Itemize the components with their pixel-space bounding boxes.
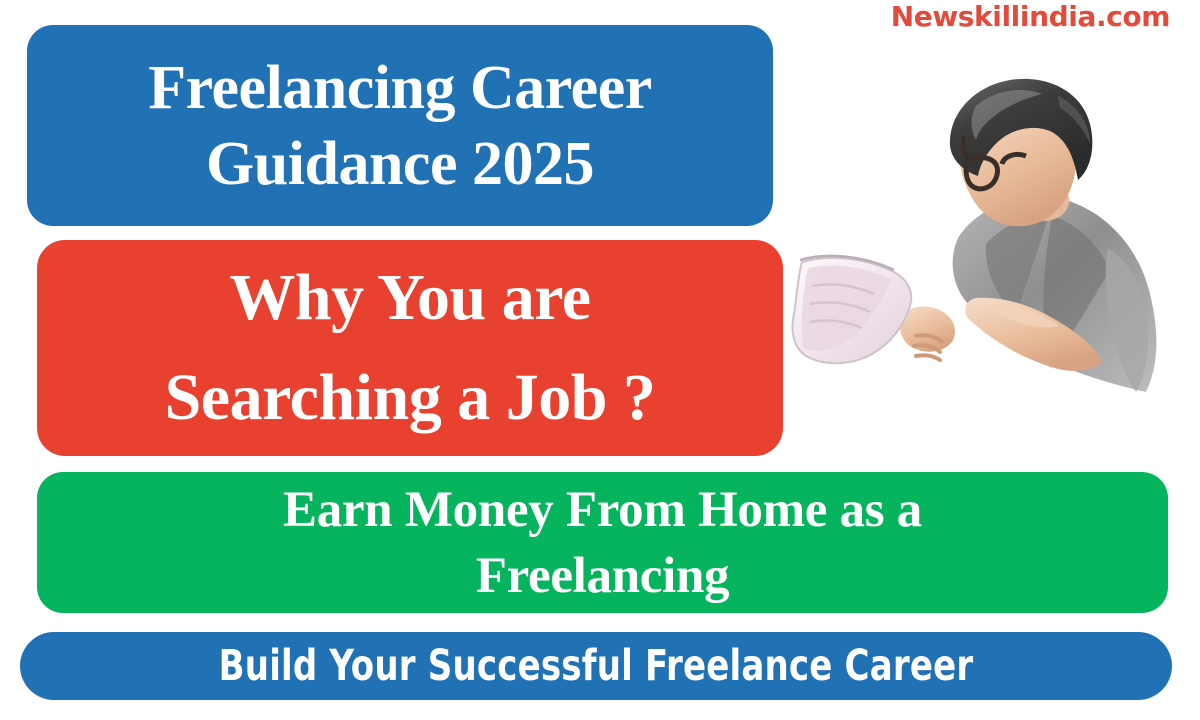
site-brand-watermark: Newskillindia.com (891, 1, 1170, 33)
earn-text: Earn Money From Home as a Freelancing (37, 477, 1168, 609)
cta-text: Build Your Successful Freelance Career (89, 642, 1103, 690)
earn-line-2: Freelancing (476, 548, 730, 604)
poster-canvas: Newskillindia.com (0, 0, 1200, 720)
question-band: Why You are Searching a Job ? (37, 240, 783, 456)
question-text: Why You are Searching a Job ? (37, 248, 783, 448)
headline-text: Freelancing Career Guidance 2025 (27, 50, 773, 202)
earn-band: Earn Money From Home as a Freelancing (37, 472, 1168, 613)
question-line-1: Why You are (229, 261, 590, 334)
question-line-2: Searching a Job ? (165, 361, 656, 434)
headline-line-2: Guidance 2025 (206, 130, 594, 198)
headline-band: Freelancing Career Guidance 2025 (27, 25, 773, 226)
cta-band[interactable]: Build Your Successful Freelance Career (20, 632, 1172, 700)
earn-line-1: Earn Money From Home as a (283, 482, 922, 538)
man-reading-book-illustration (790, 48, 1190, 468)
headline-line-1: Freelancing Career (148, 54, 651, 122)
